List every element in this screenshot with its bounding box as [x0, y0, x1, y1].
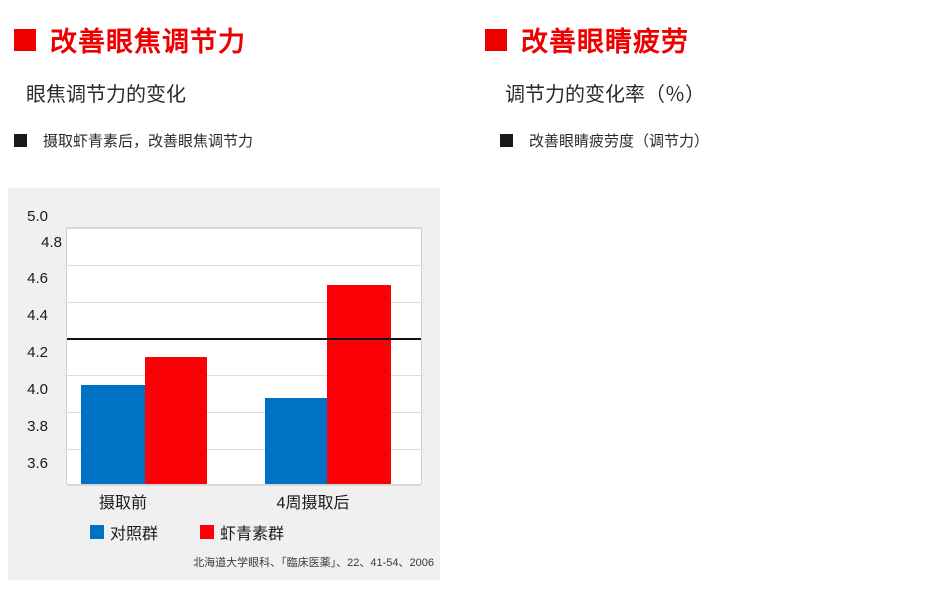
left-bar-astaxanthin-before	[145, 357, 207, 484]
right-bullet-text: 改善眼睛疲劳度（调节力）	[529, 130, 709, 151]
left-ytick-4-4: 4.4	[14, 309, 48, 322]
left-legend-item-astaxanthin: 虾青素群	[200, 520, 284, 544]
left-bullet-text: 摄取虾青素后，改善眼焦调节力	[43, 130, 253, 151]
left-xlabel-before: 摄取前	[68, 489, 178, 513]
red-square-icon	[14, 29, 36, 51]
panel-left: 改善眼焦调节力 眼焦调节力的变化 摄取虾青素后，改善眼焦调节力 5.0 4.8 …	[0, 0, 465, 592]
left-ytick-3-8: 3.8	[14, 420, 48, 433]
left-legend-label-astaxanthin: 虾青素群	[220, 520, 284, 544]
right-subtitle-row: 调节力的变化率（％）	[505, 78, 705, 107]
red-square-icon	[485, 29, 507, 51]
left-citation: 北海道大学眼科、「臨床医薬」、22、41-54、2006	[193, 554, 434, 570]
right-title-row: 改善眼睛疲劳	[485, 20, 689, 59]
right-subtitle: 调节力的变化率（％）	[505, 78, 705, 107]
left-bar-control-before	[81, 385, 145, 484]
left-title: 改善眼焦调节力	[50, 20, 246, 59]
left-ytick-4-8: 4.8	[28, 236, 62, 249]
left-xlabel-after: 4周摄取后	[248, 489, 378, 513]
left-gridline-5-0	[67, 228, 421, 229]
left-chart-card: 5.0 4.8 4.6 4.4 4.2 4.0 3.8 3.6	[8, 188, 440, 580]
legend-swatch-control-icon	[90, 525, 104, 539]
black-square-icon	[500, 134, 513, 147]
panel-right: 改善眼睛疲劳 调节力的变化率（％） 改善眼睛疲劳度（调节力） 250 200 1…	[465, 0, 930, 592]
left-gridline-4-8	[67, 265, 421, 266]
left-ytick-3-6: 3.6	[14, 457, 48, 470]
right-bullet-row: 改善眼睛疲劳度（调节力）	[500, 130, 709, 151]
left-bullet-row: 摄取虾青素后，改善眼焦调节力	[14, 130, 253, 151]
left-subtitle-row: 眼焦调节力的变化	[26, 78, 186, 107]
left-legend-item-control: 对照群	[90, 520, 158, 544]
left-subtitle: 眼焦调节力的变化	[26, 78, 186, 107]
poster-root: 改善眼焦调节力 眼焦调节力的变化 摄取虾青素后，改善眼焦调节力 5.0 4.8 …	[0, 0, 930, 592]
left-plot-area	[66, 227, 422, 485]
right-title: 改善眼睛疲劳	[521, 20, 689, 59]
left-ytick-4-0: 4.0	[14, 383, 48, 396]
left-bar-astaxanthin-after	[327, 285, 391, 484]
left-ytick-4-6: 4.6	[14, 272, 48, 285]
left-title-row: 改善眼焦调节力	[14, 20, 246, 59]
left-gridline-3-6	[67, 485, 421, 486]
left-ytick-4-2: 4.2	[14, 346, 48, 359]
legend-swatch-astaxanthin-icon	[200, 525, 214, 539]
left-ytick-5-0: 5.0	[14, 210, 48, 223]
black-square-icon	[14, 134, 27, 147]
left-reference-line-4-4	[67, 338, 421, 340]
left-legend-label-control: 对照群	[110, 520, 158, 544]
left-bar-control-after	[265, 398, 327, 484]
